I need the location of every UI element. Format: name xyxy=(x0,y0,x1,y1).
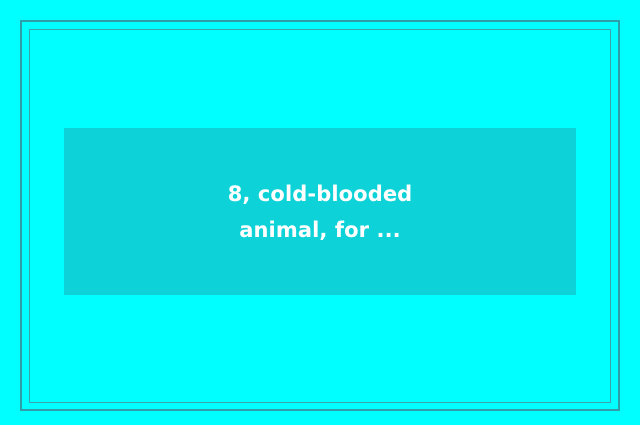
caption-panel: 8, cold-blooded animal, for ... xyxy=(64,128,576,295)
slide-canvas: 8, cold-blooded animal, for ... xyxy=(0,0,640,425)
caption-line-2: animal, for ... xyxy=(239,212,401,248)
caption-line-1: 8, cold-blooded xyxy=(228,176,413,212)
